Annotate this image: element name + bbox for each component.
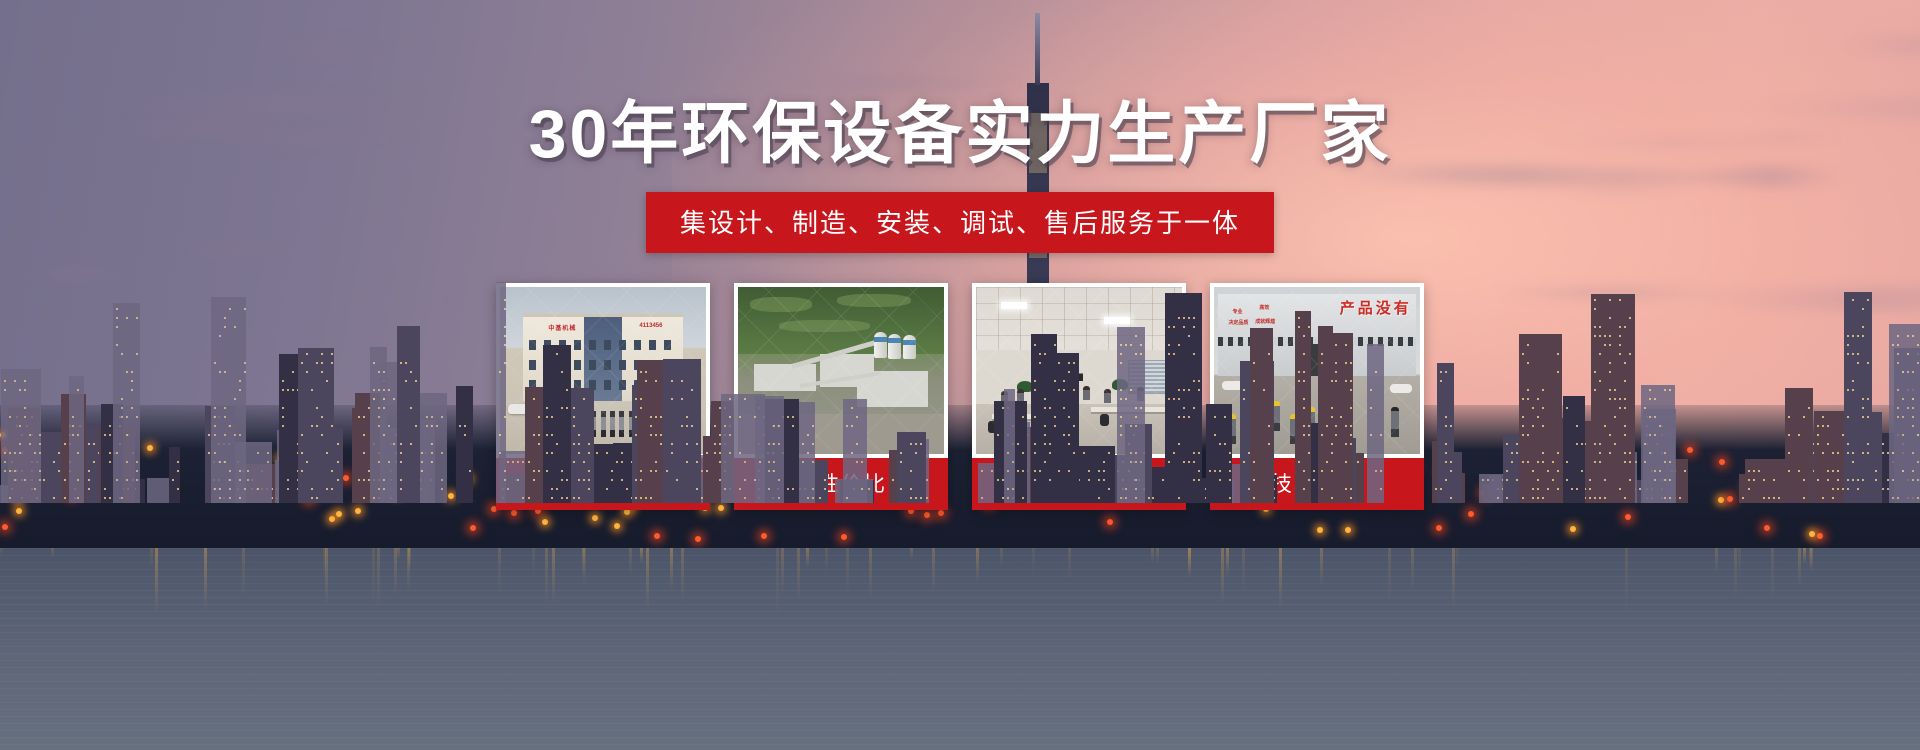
- subtitle-banner: 集设计、制造、安装、调试、售后服务于一体: [646, 192, 1274, 253]
- hero-banner: 30年环保设备实力生产厂家 集设计、制造、安装、调试、售后服务于一体 中基机械 …: [0, 0, 1920, 750]
- page-title: 30年环保设备实力生产厂家: [0, 100, 1920, 168]
